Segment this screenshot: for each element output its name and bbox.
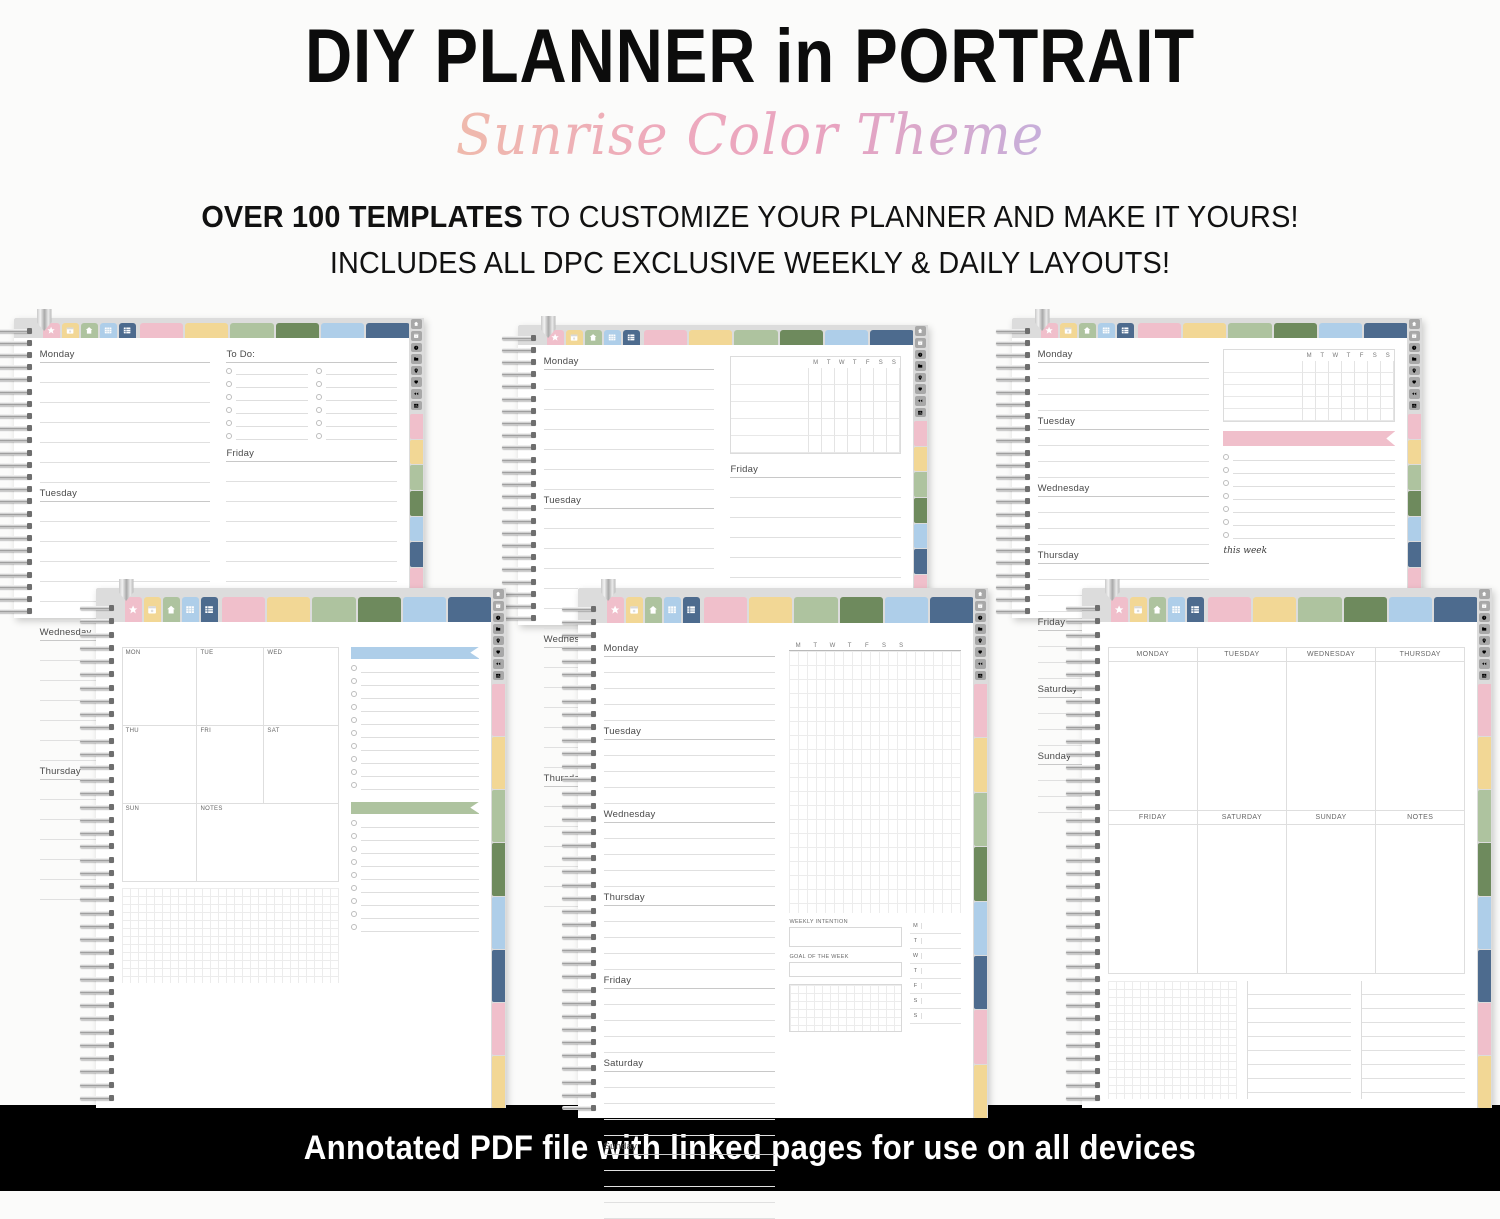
notes-lines-1[interactable]: [1247, 981, 1351, 1099]
week-cell-body[interactable]: [1198, 662, 1286, 810]
checkbox-circle[interactable]: [1223, 519, 1229, 525]
habit-check-cell[interactable]: [1368, 409, 1381, 421]
write-line[interactable]: [604, 1088, 776, 1104]
rail-button-folder-icon[interactable]: [915, 361, 926, 371]
todo-row[interactable]: [316, 377, 397, 390]
todo-row[interactable]: [316, 390, 397, 403]
write-line[interactable]: [40, 423, 211, 443]
habit-check-cell[interactable]: [1342, 409, 1355, 421]
todo-row[interactable]: [226, 364, 307, 377]
write-line[interactable]: [604, 823, 776, 839]
top-color-tab-2[interactable]: [1183, 323, 1226, 338]
checklist-line[interactable]: [361, 819, 479, 828]
checkbox-circle[interactable]: [316, 420, 322, 426]
checklist-line[interactable]: [361, 768, 479, 777]
habit-check-cell[interactable]: [1316, 373, 1329, 385]
rail-color-tab-6[interactable]: [1478, 950, 1490, 1002]
todo-row[interactable]: [226, 390, 307, 403]
checkbox-circle[interactable]: [351, 769, 357, 775]
checkbox-circle[interactable]: [351, 756, 357, 762]
top-color-tab-6[interactable]: [930, 597, 973, 623]
rail-button-heart-icon[interactable]: [493, 647, 504, 657]
top-icon-tab-grid-icon[interactable]: [182, 597, 199, 622]
rail-color-tab-3[interactable]: [974, 793, 986, 846]
top-color-tab-5[interactable]: [885, 597, 928, 623]
rail-button-chart-icon[interactable]: [975, 671, 986, 681]
todo-row[interactable]: [226, 377, 307, 390]
checkbox-circle[interactable]: [351, 846, 357, 852]
rail-button-chart-icon[interactable]: [493, 671, 504, 681]
habit-name-cell[interactable]: [1224, 373, 1302, 385]
checkbox-circle[interactable]: [226, 433, 232, 439]
rail-color-tab-2[interactable]: [974, 738, 986, 791]
write-line[interactable]: [1038, 564, 1210, 580]
top-color-tab-2[interactable]: [1253, 597, 1296, 622]
checklist-row[interactable]: [351, 779, 479, 792]
write-line[interactable]: [604, 740, 776, 756]
rail-button-chart-icon[interactable]: [411, 401, 422, 411]
checkbox-circle[interactable]: [1223, 506, 1229, 512]
habit-check-cell[interactable]: [822, 368, 835, 385]
write-line[interactable]: [604, 1203, 776, 1219]
checklist-row[interactable]: [1223, 489, 1395, 502]
dot-grid-area[interactable]: [1108, 981, 1237, 1099]
habit-name-cell[interactable]: [1224, 409, 1302, 421]
habit-check-cell[interactable]: [835, 402, 848, 419]
write-line[interactable]: [1038, 430, 1210, 446]
write-line[interactable]: [544, 430, 715, 450]
rail-button-clock-icon[interactable]: [1409, 343, 1420, 353]
checklist-row[interactable]: [351, 675, 479, 688]
habit-check-cell[interactable]: [848, 402, 861, 419]
habit-check-cell[interactable]: [1381, 397, 1394, 409]
rail-button-chart-icon[interactable]: [915, 408, 926, 418]
write-line[interactable]: [1038, 497, 1210, 513]
todo-line[interactable]: [236, 418, 307, 427]
habit-check-cell[interactable]: [1381, 409, 1394, 421]
notes-lines-2[interactable]: [1361, 981, 1465, 1099]
checklist-row[interactable]: [351, 869, 479, 882]
rail-color-tab-5[interactable]: [974, 902, 986, 955]
rail-button-clock-icon[interactable]: [411, 343, 422, 353]
write-line[interactable]: [40, 502, 211, 522]
checklist-row[interactable]: [351, 817, 479, 830]
checklist-line[interactable]: [1233, 530, 1395, 539]
checklist-row[interactable]: [1223, 476, 1395, 489]
week-cell-friday[interactable]: FRIDAY: [1108, 810, 1197, 973]
top-icon-tab-home-icon[interactable]: [81, 323, 98, 338]
habit-check-cell[interactable]: [887, 436, 900, 453]
free-notes-grid[interactable]: [789, 984, 902, 1032]
rail-button-clock-icon[interactable]: [975, 613, 986, 623]
top-color-tab-6[interactable]: [1364, 323, 1407, 338]
habit-check-cell[interactable]: [1355, 373, 1368, 385]
write-line[interactable]: [604, 938, 776, 954]
rail-color-tab-5[interactable]: [914, 524, 926, 549]
habit-check-cell[interactable]: [1303, 373, 1316, 385]
top-color-tab-2[interactable]: [267, 597, 310, 622]
habit-check-cell[interactable]: [809, 368, 822, 385]
rail-button-calendar-icon[interactable]: [493, 601, 504, 611]
write-line[interactable]: [544, 509, 715, 529]
checkbox-circle[interactable]: [351, 782, 357, 788]
checklist-row[interactable]: [351, 740, 479, 753]
checklist-line[interactable]: [361, 690, 479, 699]
write-line[interactable]: [604, 954, 776, 970]
write-line[interactable]: [730, 498, 901, 518]
habit-check-cell[interactable]: [848, 385, 861, 402]
rail-color-tab-4[interactable]: [410, 491, 422, 516]
checkbox-circle[interactable]: [351, 872, 357, 878]
rail-button-calendar-icon[interactable]: [1479, 601, 1490, 611]
rail-button-rewind-icon[interactable]: [975, 659, 986, 669]
week-cell-body[interactable]: [1376, 825, 1464, 973]
write-line[interactable]: [604, 673, 776, 689]
habit-check-cell[interactable]: [887, 419, 900, 436]
habit-check-cell[interactable]: [861, 419, 874, 436]
habit-check-cell[interactable]: [861, 402, 874, 419]
top-color-tab-4[interactable]: [358, 597, 401, 622]
top-color-tab-6[interactable]: [1434, 597, 1477, 622]
rail-button-pin-icon[interactable]: [493, 636, 504, 646]
top-color-tab-4[interactable]: [1344, 597, 1387, 622]
checklist-row[interactable]: [1223, 528, 1395, 541]
rail-button-calendar-icon[interactable]: [1409, 331, 1420, 341]
rail-button-calendar-icon[interactable]: [975, 601, 986, 611]
write-line[interactable]: [1248, 1051, 1351, 1065]
top-icon-tab-star-icon[interactable]: [607, 597, 624, 623]
checklist-row[interactable]: [351, 908, 479, 921]
habit-check-cell[interactable]: [1368, 373, 1381, 385]
rail-button-home-icon[interactable]: [493, 589, 504, 599]
habit-check-cell[interactable]: [1381, 385, 1394, 397]
top-icon-tab-calendar-icon[interactable]: [626, 597, 643, 623]
write-line[interactable]: [1038, 446, 1210, 462]
rail-color-tab-5[interactable]: [410, 517, 422, 542]
habit-check-cell[interactable]: [1303, 385, 1316, 397]
checkbox-circle[interactable]: [351, 665, 357, 671]
habit-check-cell[interactable]: [809, 419, 822, 436]
top-color-tab-1[interactable]: [644, 330, 687, 345]
habit-check-cell[interactable]: [874, 368, 887, 385]
top-icon-tab-star-icon[interactable]: [125, 597, 142, 622]
checklist-line[interactable]: [361, 845, 479, 854]
top-color-tab-3[interactable]: [734, 330, 777, 345]
rail-button-rewind-icon[interactable]: [411, 389, 422, 399]
top-color-tab-3[interactable]: [230, 323, 273, 338]
rail-color-tab-4[interactable]: [1408, 491, 1420, 516]
todo-line[interactable]: [236, 366, 307, 375]
habit-check-cell[interactable]: [874, 402, 887, 419]
write-line[interactable]: [1248, 995, 1351, 1009]
checklist-line[interactable]: [361, 923, 479, 932]
rail-color-tab-2[interactable]: [914, 447, 926, 472]
checkbox-circle[interactable]: [1223, 454, 1229, 460]
write-line[interactable]: [226, 502, 397, 522]
checklist-line[interactable]: [1233, 478, 1395, 487]
rail-button-folder-icon[interactable]: [1479, 624, 1490, 634]
rail-color-tab-3[interactable]: [1478, 790, 1490, 842]
day-initial-row[interactable]: S: [910, 994, 961, 1009]
top-icon-tab-list-icon[interactable]: [623, 330, 640, 345]
weekly-intention-box[interactable]: [789, 927, 902, 947]
top-color-tab-5[interactable]: [403, 597, 446, 622]
rail-button-rewind-icon[interactable]: [915, 396, 926, 406]
rail-color-tab-4[interactable]: [1478, 843, 1490, 895]
checklist-line[interactable]: [361, 755, 479, 764]
checkbox-circle[interactable]: [351, 833, 357, 839]
rail-color-tab-5[interactable]: [1478, 897, 1490, 949]
checklist-row[interactable]: [1223, 450, 1395, 463]
top-icon-tab-list-icon[interactable]: [1117, 323, 1134, 338]
todo-line[interactable]: [326, 379, 397, 388]
todo-row[interactable]: [226, 403, 307, 416]
write-line[interactable]: [226, 462, 397, 482]
top-color-tab-5[interactable]: [321, 323, 364, 338]
write-line[interactable]: [604, 1155, 776, 1171]
todo-line[interactable]: [326, 405, 397, 414]
checkbox-circle[interactable]: [1223, 493, 1229, 499]
checklist-row[interactable]: [351, 701, 479, 714]
rail-button-home-icon[interactable]: [915, 326, 926, 336]
write-line[interactable]: [1362, 1079, 1465, 1093]
rail-color-tab-8[interactable]: [974, 1065, 986, 1118]
write-line[interactable]: [604, 1187, 776, 1203]
rail-color-tab-1[interactable]: [974, 684, 986, 737]
write-line[interactable]: [604, 1037, 776, 1053]
write-line[interactable]: [1038, 462, 1210, 478]
write-line[interactable]: [604, 855, 776, 871]
week-cell-mon[interactable]: MON: [122, 647, 197, 725]
top-icon-tab-list-icon[interactable]: [201, 597, 218, 622]
write-line[interactable]: [1362, 1009, 1465, 1023]
habit-check-cell[interactable]: [1368, 385, 1381, 397]
day-initial-row[interactable]: W: [910, 949, 961, 964]
checkbox-circle[interactable]: [351, 730, 357, 736]
rail-button-chart-icon[interactable]: [1409, 401, 1420, 411]
habit-check-cell[interactable]: [848, 419, 861, 436]
habit-check-cell[interactable]: [809, 436, 822, 453]
rail-button-clock-icon[interactable]: [915, 350, 926, 360]
checkbox-circle[interactable]: [351, 898, 357, 904]
write-line[interactable]: [604, 1171, 776, 1187]
write-line[interactable]: [604, 756, 776, 772]
checkbox-circle[interactable]: [316, 394, 322, 400]
rail-color-tab-4[interactable]: [492, 843, 504, 895]
rail-button-clock-icon[interactable]: [493, 613, 504, 623]
write-line[interactable]: [1362, 1023, 1465, 1037]
day-initial-row[interactable]: S: [910, 1009, 961, 1024]
rail-color-tab-4[interactable]: [974, 847, 986, 900]
habit-name-cell[interactable]: [731, 368, 809, 385]
write-line[interactable]: [40, 542, 211, 562]
checklist-line[interactable]: [361, 742, 479, 751]
habit-check-cell[interactable]: [887, 385, 900, 402]
rail-color-tab-6[interactable]: [410, 542, 422, 567]
write-line[interactable]: [40, 443, 211, 463]
rail-button-heart-icon[interactable]: [1479, 647, 1490, 657]
checklist-row[interactable]: [351, 714, 479, 727]
habit-name-cell[interactable]: [1224, 397, 1302, 409]
write-line[interactable]: [604, 788, 776, 804]
habit-name-cell[interactable]: [1224, 361, 1302, 373]
write-line[interactable]: [1362, 1065, 1465, 1079]
write-line[interactable]: [1038, 363, 1210, 379]
write-line[interactable]: [604, 922, 776, 938]
habit-check-cell[interactable]: [835, 385, 848, 402]
top-icon-tab-home-icon[interactable]: [1079, 323, 1096, 338]
habit-check-cell[interactable]: [848, 368, 861, 385]
rail-button-pin-icon[interactable]: [915, 373, 926, 383]
checklist-row[interactable]: [351, 856, 479, 869]
top-icon-tab-home-icon[interactable]: [163, 597, 180, 622]
habit-check-cell[interactable]: [1316, 409, 1329, 421]
top-color-tab-5[interactable]: [1389, 597, 1432, 622]
top-icon-tab-grid-icon[interactable]: [664, 597, 681, 623]
write-line[interactable]: [544, 410, 715, 430]
checkbox-circle[interactable]: [351, 911, 357, 917]
tracker-grid-area[interactable]: [789, 651, 961, 913]
write-line[interactable]: [544, 370, 715, 390]
top-icon-tab-grid-icon[interactable]: [100, 323, 117, 338]
checklist-line[interactable]: [361, 832, 479, 841]
habit-check-cell[interactable]: [874, 385, 887, 402]
week-cell-sun[interactable]: SUN: [122, 803, 197, 881]
write-line[interactable]: [1248, 1037, 1351, 1051]
day-initial-row[interactable]: M: [910, 919, 961, 934]
habit-name-cell[interactable]: [731, 402, 809, 419]
rail-color-tab-4[interactable]: [914, 498, 926, 523]
checklist-line[interactable]: [361, 703, 479, 712]
habit-check-cell[interactable]: [1303, 409, 1316, 421]
habit-check-cell[interactable]: [1342, 397, 1355, 409]
write-line[interactable]: [604, 772, 776, 788]
todo-row[interactable]: [316, 364, 397, 377]
todo-line[interactable]: [326, 392, 397, 401]
top-color-tab-4[interactable]: [1274, 323, 1317, 338]
checklist-line[interactable]: [361, 677, 479, 686]
checkbox-circle[interactable]: [351, 859, 357, 865]
rail-button-rewind-icon[interactable]: [493, 659, 504, 669]
top-icon-tab-grid-icon[interactable]: [1098, 323, 1115, 338]
rail-button-pin-icon[interactable]: [411, 366, 422, 376]
week-cell-saturday[interactable]: SATURDAY: [1197, 810, 1286, 973]
checkbox-circle[interactable]: [351, 704, 357, 710]
write-line[interactable]: [544, 470, 715, 490]
week-cell-notes[interactable]: NOTES: [1376, 810, 1465, 973]
rail-color-tab-5[interactable]: [1408, 517, 1420, 542]
top-color-tab-1[interactable]: [1208, 597, 1251, 622]
todo-line[interactable]: [326, 366, 397, 375]
habit-check-cell[interactable]: [822, 402, 835, 419]
habit-name-cell[interactable]: [731, 419, 809, 436]
habit-check-cell[interactable]: [1329, 409, 1342, 421]
habit-check-cell[interactable]: [861, 385, 874, 402]
week-cell-body[interactable]: [1287, 825, 1375, 973]
todo-line[interactable]: [326, 418, 397, 427]
checkbox-circle[interactable]: [316, 368, 322, 374]
top-color-tab-6[interactable]: [870, 330, 913, 345]
checklist-row[interactable]: [1223, 515, 1395, 528]
write-line[interactable]: [604, 705, 776, 721]
goal-box[interactable]: [789, 962, 902, 977]
top-icon-tab-calendar-icon[interactable]: [62, 323, 79, 338]
habit-check-cell[interactable]: [809, 385, 822, 402]
top-color-tab-5[interactable]: [825, 330, 868, 345]
top-color-tab-1[interactable]: [140, 323, 183, 338]
rail-button-rewind-icon[interactable]: [1479, 659, 1490, 669]
top-color-tab-1[interactable]: [1138, 323, 1181, 338]
top-color-tab-3[interactable]: [1228, 323, 1271, 338]
checklist-row[interactable]: [1223, 463, 1395, 476]
rail-button-calendar-icon[interactable]: [411, 331, 422, 341]
rail-color-tab-2[interactable]: [1408, 440, 1420, 465]
top-icon-tab-list-icon[interactable]: [683, 597, 700, 623]
habit-check-cell[interactable]: [1355, 409, 1368, 421]
write-line[interactable]: [40, 463, 211, 483]
habit-check-cell[interactable]: [822, 436, 835, 453]
top-color-tab-2[interactable]: [689, 330, 732, 345]
todo-row[interactable]: [226, 429, 307, 442]
todo-line[interactable]: [326, 431, 397, 440]
rail-color-tab-3[interactable]: [410, 465, 422, 490]
habit-check-cell[interactable]: [1381, 361, 1394, 373]
day-initial-row[interactable]: F: [910, 979, 961, 994]
week-cell-body[interactable]: [1287, 662, 1375, 810]
checkbox-circle[interactable]: [226, 381, 232, 387]
todo-line[interactable]: [236, 405, 307, 414]
rail-color-tab-6[interactable]: [1408, 542, 1420, 567]
checklist-line[interactable]: [1233, 504, 1395, 513]
checklist-line[interactable]: [361, 781, 479, 790]
checklist-row[interactable]: [351, 662, 479, 675]
checkbox-circle[interactable]: [1223, 532, 1229, 538]
rail-button-heart-icon[interactable]: [411, 377, 422, 387]
rail-button-clock-icon[interactable]: [1479, 613, 1490, 623]
write-line[interactable]: [1362, 1037, 1465, 1051]
checkbox-circle[interactable]: [226, 407, 232, 413]
checklist-line[interactable]: [1233, 517, 1395, 526]
rail-color-tab-7[interactable]: [974, 1010, 986, 1063]
checklist-row[interactable]: [351, 830, 479, 843]
habit-check-cell[interactable]: [887, 402, 900, 419]
day-initial-row[interactable]: T: [910, 934, 961, 949]
top-icon-tab-list-icon[interactable]: [1187, 597, 1204, 622]
write-line[interactable]: [544, 529, 715, 549]
checklist-row[interactable]: [351, 895, 479, 908]
habit-check-cell[interactable]: [1355, 397, 1368, 409]
checkbox-circle[interactable]: [1223, 480, 1229, 486]
write-line[interactable]: [1248, 1023, 1351, 1037]
todo-row[interactable]: [316, 403, 397, 416]
top-color-tab-5[interactable]: [1319, 323, 1362, 338]
write-line[interactable]: [40, 522, 211, 542]
week-cell-wednesday[interactable]: WEDNESDAY: [1286, 647, 1375, 810]
rail-button-heart-icon[interactable]: [1409, 377, 1420, 387]
write-line[interactable]: [1038, 513, 1210, 529]
top-color-tab-1[interactable]: [704, 597, 747, 623]
rail-color-tab-6[interactable]: [974, 956, 986, 1009]
checkbox-circle[interactable]: [351, 743, 357, 749]
write-line[interactable]: [40, 363, 211, 383]
top-color-tab-6[interactable]: [448, 597, 491, 622]
checkbox-circle[interactable]: [226, 394, 232, 400]
top-color-tab-4[interactable]: [840, 597, 883, 623]
checkbox-circle[interactable]: [351, 691, 357, 697]
write-line[interactable]: [544, 569, 715, 589]
checklist-line[interactable]: [361, 729, 479, 738]
rail-button-heart-icon[interactable]: [915, 384, 926, 394]
